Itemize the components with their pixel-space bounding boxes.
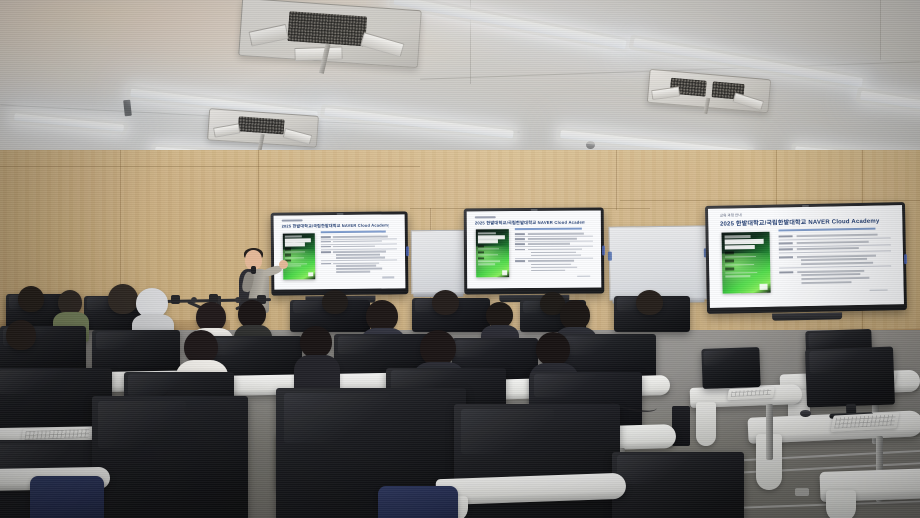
floor-outlet-icon	[795, 488, 809, 496]
student-head	[536, 332, 570, 366]
monitor-right-near	[701, 347, 760, 389]
display-center[interactable]: 2025 한밭대학교/국립한밭대학교 NAVER Cloud Academy	[464, 208, 605, 295]
ceiling-sensor-icon	[123, 100, 132, 117]
display-power-button[interactable]	[904, 254, 907, 264]
chair-front-left	[30, 476, 104, 518]
display-right[interactable]: 교육 과정 안내 2025 한밭대학교/국립한밭대학교 NAVER Cloud …	[705, 202, 907, 314]
slide-poster	[721, 231, 771, 293]
slide-right: 교육 과정 안내 2025 한밭대학교/국립한밭대학교 NAVER Cloud …	[708, 205, 904, 308]
slide-poster	[476, 230, 510, 278]
student-head	[238, 300, 266, 328]
slide-body	[778, 227, 892, 294]
display-right-mount	[772, 312, 842, 320]
monitor-row4-2	[92, 396, 248, 518]
classroom-photo: 2025 한밭대학교/국립한밭대학교 NAVER Cloud Academy	[0, 0, 920, 518]
student-head	[18, 286, 44, 312]
student-head	[322, 290, 348, 314]
student-head	[432, 290, 459, 315]
monitor-right-mid	[805, 346, 895, 407]
microphone-icon	[251, 266, 256, 274]
student-head	[420, 330, 456, 366]
slide-title: 2025 한밭대학교/국립한밭대학교 NAVER Cloud Academy	[720, 216, 879, 227]
slide-center: 2025 한밭대학교/국립한밭대학교 NAVER Cloud Academy	[467, 211, 602, 289]
monitor-row4-5	[612, 452, 744, 518]
student-head	[6, 320, 36, 350]
slide-eyebrow	[475, 216, 496, 218]
slide-title: 2025 한밭대학교/국립한밭대학교 NAVER Cloud Academy	[475, 219, 585, 226]
slide-body	[515, 228, 593, 279]
slide-poster	[282, 233, 315, 279]
chair-front-right	[378, 486, 458, 518]
presenter-right-hand	[279, 260, 288, 269]
desk-right-near-panel	[696, 402, 716, 446]
desk-right-front-panel	[826, 490, 856, 518]
student-head	[300, 326, 332, 358]
slide-eyebrow	[282, 220, 303, 222]
slide-footer-note	[869, 289, 887, 291]
slide-lead-text	[778, 227, 875, 231]
desk-right-near-leg	[766, 404, 773, 460]
display-left[interactable]: 2025 한밭대학교/국립한밭대학교 NAVER Cloud Academy	[271, 211, 409, 295]
mouse-right-mid	[800, 410, 811, 417]
poster-qr-code	[759, 284, 767, 290]
slide-body	[321, 231, 397, 281]
student-head	[108, 284, 138, 314]
slide-row	[779, 281, 892, 285]
slide-eyebrow: 교육 과정 안내	[720, 214, 751, 217]
whiteboard-right[interactable]	[608, 225, 707, 300]
student-head	[184, 330, 218, 364]
slide-title: 2025 한밭대학교/국립한밭대학교 NAVER Cloud Academy	[282, 223, 389, 230]
student-head	[560, 300, 590, 330]
whiteboard-left[interactable]	[411, 230, 466, 295]
student-head	[636, 290, 663, 315]
slide-left: 2025 한밭대학교/국립한밭대학교 NAVER Cloud Academy	[274, 214, 406, 289]
